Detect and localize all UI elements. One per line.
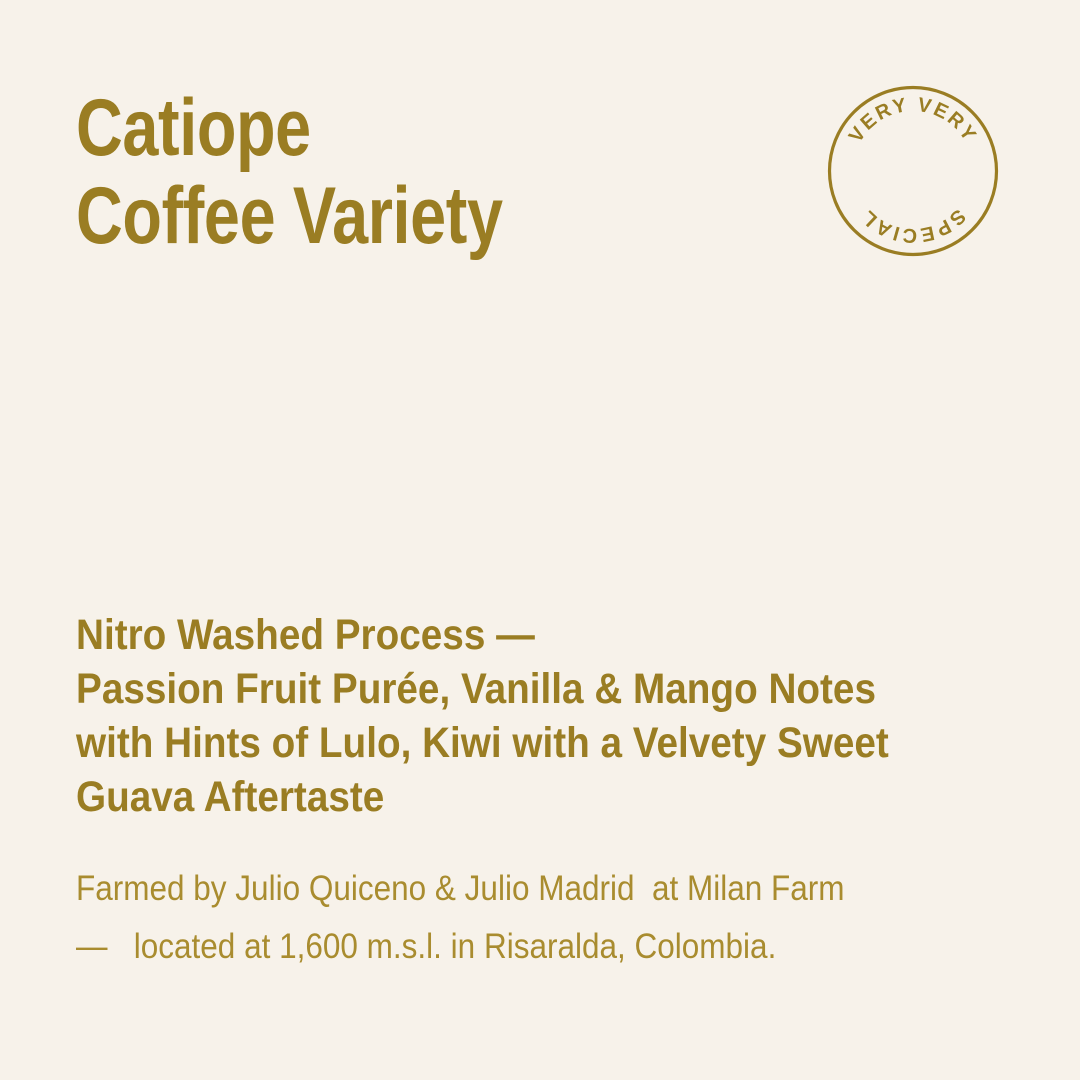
description-line-3: with Hints of Lulo, Kiwi with a Velvety … — [76, 716, 922, 770]
title-line-1: Catiope — [76, 84, 636, 172]
description-line-2: Passion Fruit Purée, Vanilla & Mango Not… — [76, 662, 922, 716]
very-very-special-badge: VERY VERY SPECIAL — [828, 86, 998, 256]
tasting-notes-description: Nitro Washed Process — Passion Fruit Pur… — [76, 608, 1016, 824]
farm-origin-footer: Farmed by Julio Quiceno & Julio Madrid a… — [76, 860, 1016, 976]
description-line-4: Guava Aftertaste — [76, 770, 922, 824]
footer-line-2: — located at 1,600 m.s.l. in Risaralda, … — [76, 918, 922, 976]
description-line-1: Nitro Washed Process — — [76, 608, 922, 662]
footer-line-1: Farmed by Julio Quiceno & Julio Madrid a… — [76, 860, 922, 918]
badge-bottom-arc-text: SPECIAL — [856, 205, 969, 247]
page-title: Catiope Coffee Variety — [76, 84, 776, 260]
title-line-2: Coffee Variety — [76, 172, 636, 260]
coffee-variety-card: Catiope Coffee Variety VERY VERY SPECIAL… — [0, 0, 1080, 1080]
